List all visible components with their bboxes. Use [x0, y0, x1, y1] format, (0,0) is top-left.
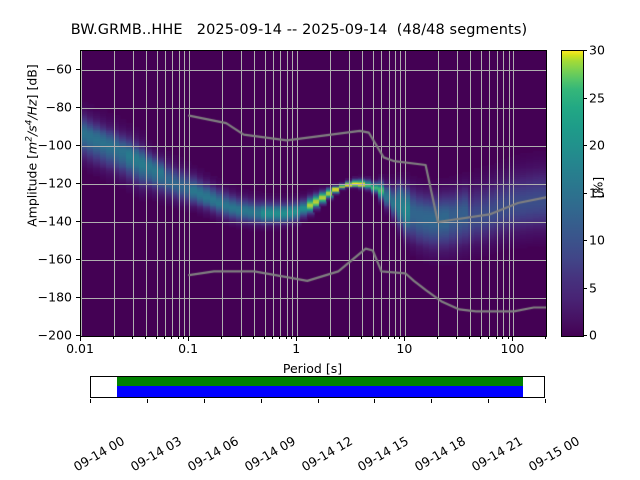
x-axis-minor-tick	[183, 336, 184, 339]
y-axis-tick-mark	[76, 221, 80, 222]
y-axis-tick-mark	[76, 107, 80, 108]
coverage-tick-mark	[204, 399, 205, 403]
x-axis-minor-tick	[456, 336, 457, 339]
colorbar[interactable]	[561, 50, 584, 337]
x-axis-minor-tick	[545, 336, 546, 339]
y-axis-title-hz: /Hz	[25, 99, 40, 119]
colorbar-tick-mark	[583, 335, 587, 336]
y-axis-title-suffix: ] [dB]	[25, 64, 40, 99]
x-axis-major-tick	[404, 336, 405, 341]
x-axis-minor-tick	[348, 336, 349, 339]
y-axis-tick-mark	[76, 183, 80, 184]
y-axis-tick-label: −140	[12, 214, 72, 229]
data-coverage-bar[interactable]	[90, 376, 545, 398]
y-axis-title-prefix: Amplitude [	[25, 154, 40, 227]
x-axis-minor-tick	[221, 336, 222, 339]
x-axis-minor-tick	[437, 336, 438, 339]
coverage-tick-label: 09-14 00	[71, 433, 127, 474]
colorbar-tick-mark	[583, 98, 587, 99]
coverage-tick-mark	[90, 399, 91, 403]
ppsd-plot-area[interactable]	[80, 50, 547, 337]
colorbar-tick-mark	[583, 50, 587, 51]
colorbar-tick-label: 30	[589, 43, 605, 58]
colorbar-tick-mark	[583, 145, 587, 146]
x-axis-minor-tick	[394, 336, 395, 339]
coverage-tick-label: 09-14 15	[355, 433, 411, 474]
x-axis-minor-tick	[240, 336, 241, 339]
x-axis-minor-tick	[388, 336, 389, 339]
ppsd-canvas-layer	[81, 51, 546, 336]
x-axis-title: Period [s]	[80, 361, 545, 376]
y-axis-title-slash-s: /s	[25, 125, 40, 136]
coverage-blue-band	[117, 386, 523, 397]
x-axis-minor-tick	[132, 336, 133, 339]
x-axis-tick-label: 1	[292, 341, 300, 356]
x-axis-minor-tick	[469, 336, 470, 339]
y-axis-tick-mark	[76, 69, 80, 70]
gridline-vertical	[546, 51, 547, 336]
x-axis-major-tick	[512, 336, 513, 341]
x-axis-minor-tick	[502, 336, 503, 339]
y-axis-tick-mark	[76, 259, 80, 260]
y-axis-title-sup2: 2	[24, 136, 34, 142]
x-axis-minor-tick	[272, 336, 273, 339]
colorbar-tick-label: 5	[589, 280, 597, 295]
coverage-tick-label: 09-15 00	[526, 433, 582, 474]
y-axis-tick-mark	[76, 297, 80, 298]
colorbar-tick-mark	[583, 193, 587, 194]
x-axis-minor-tick	[156, 336, 157, 339]
y-axis-tick-mark	[76, 145, 80, 146]
x-axis-minor-tick	[171, 336, 172, 339]
y-axis-title: Amplitude [m2/s4/Hz] [dB]	[24, 6, 39, 286]
y-axis-labels: −60−80−100−120−140−160−180−200	[8, 50, 72, 335]
ppsd-figure: BW.GRMB..HHE 2025-09-14 -- 2025-09-14 (4…	[0, 0, 640, 480]
page-title: BW.GRMB..HHE 2025-09-14 -- 2025-09-14 (4…	[0, 22, 598, 38]
coverage-tick-label: 09-14 06	[185, 433, 241, 474]
x-axis-minor-tick	[508, 336, 509, 339]
coverage-tick-label: 09-14 21	[469, 433, 525, 474]
coverage-tick-mark	[374, 399, 375, 403]
x-axis-minor-tick	[380, 336, 381, 339]
y-axis-tick-label: −60	[12, 62, 72, 77]
coverage-tick-label: 09-14 03	[128, 433, 184, 474]
y-axis-tick-label: −160	[12, 252, 72, 267]
x-axis-minor-tick	[264, 336, 265, 339]
colorbar-tick-label: 25	[589, 90, 605, 105]
x-axis-minor-tick	[286, 336, 287, 339]
x-axis-tick-label: 0.1	[178, 341, 198, 356]
noise-model-curves	[81, 51, 546, 336]
colorbar-title: [%]	[591, 128, 606, 248]
coverage-tick-mark	[261, 399, 262, 403]
x-axis-minor-tick	[496, 336, 497, 339]
colorbar-tick-mark	[583, 240, 587, 241]
x-axis-minor-tick	[329, 336, 330, 339]
x-axis-minor-tick	[399, 336, 400, 339]
x-axis-major-tick	[188, 336, 189, 341]
coverage-tick-mark	[431, 399, 432, 403]
y-axis-title-m: m	[25, 142, 40, 154]
x-axis-tick-label: 10	[396, 341, 412, 356]
x-axis-minor-tick	[178, 336, 179, 339]
x-axis-minor-tick	[480, 336, 481, 339]
coverage-tick-mark	[488, 399, 489, 403]
x-axis-minor-tick	[164, 336, 165, 339]
x-axis-major-tick	[296, 336, 297, 341]
gridline-vertical	[546, 51, 547, 336]
y-axis-tick-label: −200	[12, 328, 72, 343]
x-axis-minor-tick	[361, 336, 362, 339]
x-axis-minor-tick	[291, 336, 292, 339]
coverage-tick-label: 09-14 12	[298, 433, 354, 474]
x-axis-minor-tick	[488, 336, 489, 339]
y-axis-title-sup4: 4	[24, 120, 34, 126]
gridline-horizontal	[81, 336, 546, 337]
x-axis-tick-label: 0.01	[66, 341, 94, 356]
x-axis-minor-tick	[113, 336, 114, 339]
x-axis-minor-tick	[253, 336, 254, 339]
x-axis-major-tick	[80, 336, 81, 341]
y-axis-tick-label: −80	[12, 100, 72, 115]
x-axis-minor-tick	[279, 336, 280, 339]
x-axis-tick-label: 100	[501, 341, 525, 356]
coverage-tick-label: 09-14 09	[241, 433, 297, 474]
colorbar-tick-mark	[583, 288, 587, 289]
coverage-tick-mark	[147, 399, 148, 403]
x-axis-minor-tick	[145, 336, 146, 339]
coverage-tick-mark	[545, 399, 546, 403]
colorbar-tick-label: 0	[589, 328, 597, 343]
y-axis-tick-label: −180	[12, 290, 72, 305]
y-axis-tick-label: −100	[12, 138, 72, 153]
y-axis-tick-label: −120	[12, 176, 72, 191]
x-axis-minor-tick	[372, 336, 373, 339]
coverage-tick-mark	[318, 399, 319, 403]
coverage-green-band	[117, 377, 523, 386]
coverage-tick-label: 09-14 18	[412, 433, 468, 474]
